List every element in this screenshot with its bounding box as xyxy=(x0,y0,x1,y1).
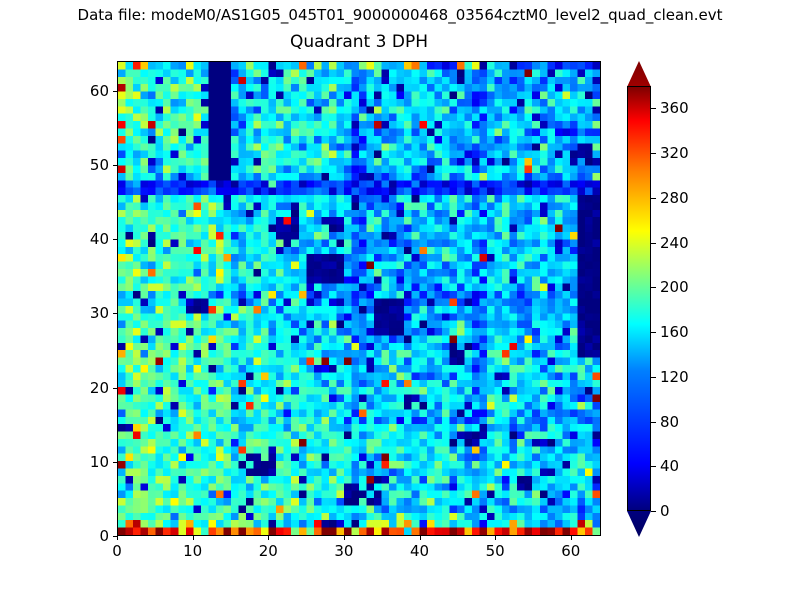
y-tick xyxy=(113,536,117,537)
y-tick-label: 40 xyxy=(55,230,109,248)
colorbar-tick xyxy=(651,377,656,378)
colorbar-tick xyxy=(651,466,656,467)
colorbar-extend-min-arrow xyxy=(627,511,651,537)
colorbar-tick xyxy=(651,287,656,288)
colorbar-tick xyxy=(651,332,656,333)
colorbar-tick-label: 200 xyxy=(660,278,689,296)
colorbar-gradient xyxy=(627,86,651,511)
matplotlib-figure: Data file: modeM0/AS1G05_045T01_90000004… xyxy=(0,0,800,600)
y-tick xyxy=(113,165,117,166)
colorbar-tick-label: 280 xyxy=(660,189,689,207)
colorbar-tick xyxy=(651,198,656,199)
colorbar-tick-label: 120 xyxy=(660,368,689,386)
x-tick xyxy=(420,536,421,540)
colorbar-tick xyxy=(651,511,656,512)
colorbar-tick xyxy=(651,108,656,109)
colorbar-tick xyxy=(651,243,656,244)
y-tick xyxy=(113,388,117,389)
x-tick xyxy=(268,536,269,540)
x-tick-label: 30 xyxy=(314,542,374,560)
colorbar-tick-label: 0 xyxy=(660,502,670,520)
colorbar-extend-max-arrow xyxy=(627,61,651,87)
x-tick xyxy=(193,536,194,540)
y-tick-label: 20 xyxy=(55,379,109,397)
y-tick-label: 10 xyxy=(55,453,109,471)
colorbar-tick-label: 320 xyxy=(660,144,689,162)
heatmap-image xyxy=(118,62,600,535)
y-tick xyxy=(113,313,117,314)
x-tick xyxy=(117,536,118,540)
x-tick-label: 50 xyxy=(465,542,525,560)
y-tick-label: 60 xyxy=(55,82,109,100)
colorbar-tick-label: 40 xyxy=(660,457,679,475)
y-tick-label: 50 xyxy=(55,156,109,174)
axes-title: Quadrant 3 DPH xyxy=(117,32,601,52)
colorbar-tick-label: 80 xyxy=(660,413,679,431)
figure-suptitle: Data file: modeM0/AS1G05_045T01_90000004… xyxy=(0,6,800,24)
x-tick xyxy=(344,536,345,540)
y-tick-label: 30 xyxy=(55,304,109,322)
x-tick xyxy=(495,536,496,540)
x-tick-label: 10 xyxy=(163,542,223,560)
colorbar-tick-label: 160 xyxy=(660,323,689,341)
colorbar-tick-label: 360 xyxy=(660,99,689,117)
y-tick-label: 0 xyxy=(55,527,109,545)
colorbar: 04080120160200240280320360 xyxy=(627,61,651,536)
x-tick-label: 40 xyxy=(390,542,450,560)
x-tick-label: 20 xyxy=(238,542,298,560)
y-tick xyxy=(113,239,117,240)
y-tick xyxy=(113,91,117,92)
heatmap-axes xyxy=(117,61,601,536)
x-tick xyxy=(571,536,572,540)
y-tick xyxy=(113,462,117,463)
x-tick-label: 60 xyxy=(541,542,601,560)
colorbar-tick xyxy=(651,153,656,154)
colorbar-tick xyxy=(651,422,656,423)
colorbar-tick-label: 240 xyxy=(660,234,689,252)
